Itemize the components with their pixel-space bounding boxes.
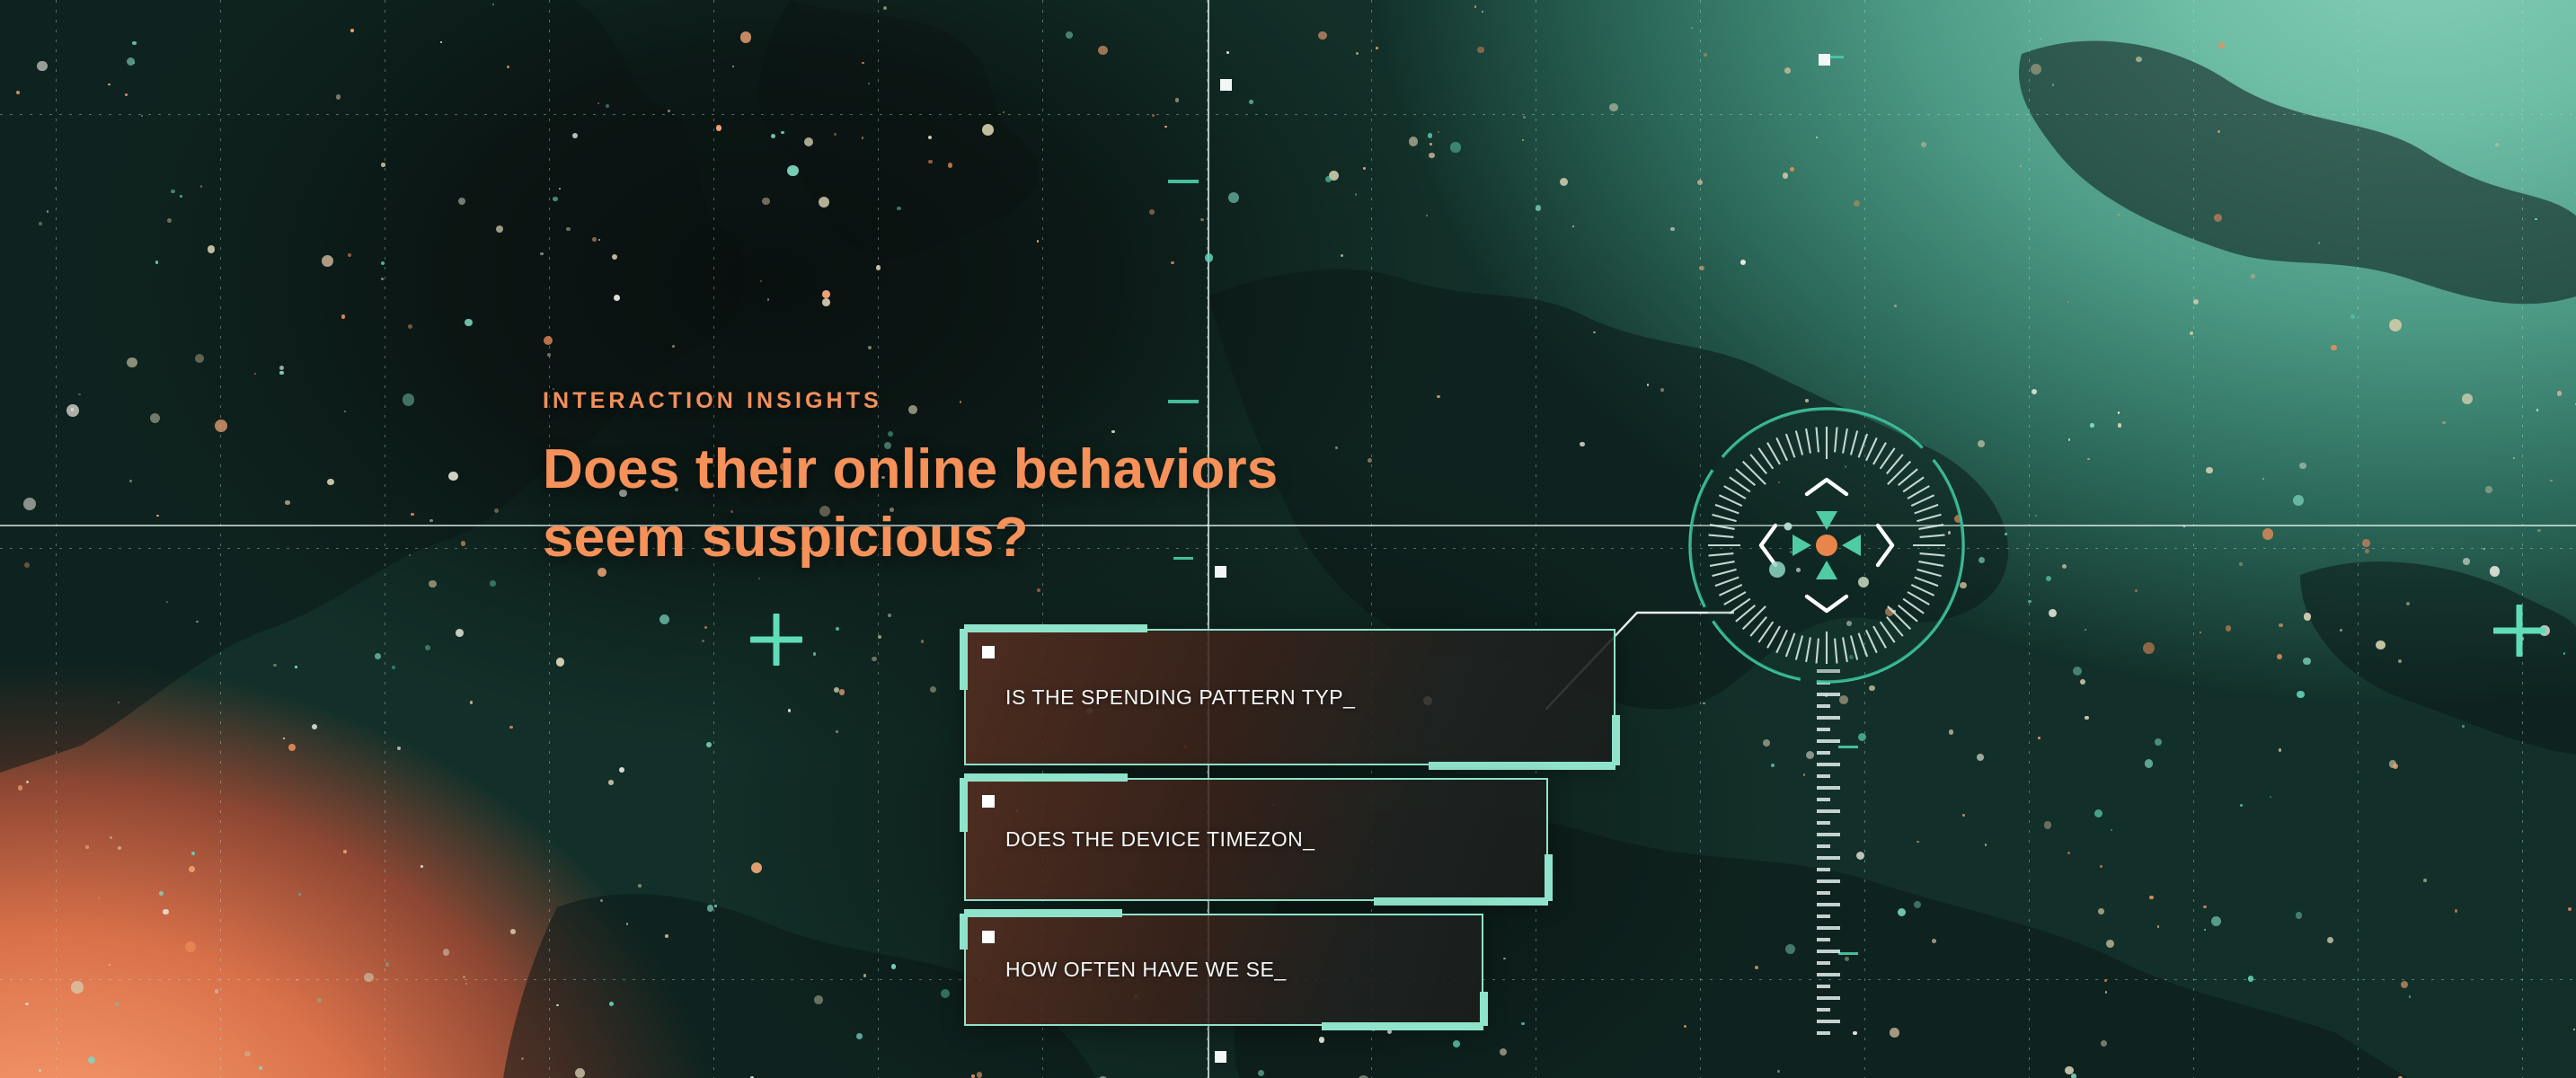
data-point-dot: [1854, 200, 1860, 207]
data-point-dot: [208, 245, 215, 252]
data-point-dot: [1790, 167, 1794, 172]
data-point-dot: [2087, 458, 2089, 460]
data-point-dot: [317, 998, 322, 1003]
data-point-dot: [760, 280, 762, 282]
data-point-dot: [364, 973, 373, 982]
data-point-dot: [1755, 966, 1758, 969]
data-point-dot: [1429, 153, 1435, 159]
data-point-dot: [2080, 679, 2085, 685]
data-point-dot: [288, 744, 296, 751]
data-point-dot: [285, 500, 289, 505]
data-point-dot: [559, 188, 561, 190]
data-point-dot: [547, 353, 551, 357]
data-point-dot: [490, 580, 495, 586]
hud-satellite-dot: [1784, 523, 1793, 531]
data-point-dot: [2190, 331, 2193, 335]
data-point-dot: [336, 94, 341, 99]
corner-accent-bottom-right: [1480, 992, 1488, 1026]
corner-accent-top-left: [964, 909, 1122, 917]
data-point-dot: [132, 41, 137, 46]
data-point-dot: [2111, 829, 2112, 831]
data-point-dot: [463, 976, 465, 978]
data-point-dot: [196, 621, 198, 623]
corner-accent-bottom-right: [1612, 715, 1620, 765]
data-point-dot: [1437, 395, 1439, 398]
data-point-dot: [1921, 142, 1926, 147]
data-point-dot: [1149, 209, 1155, 215]
data-point-dot: [18, 785, 22, 790]
data-point-dot: [2217, 130, 2220, 133]
data-point-dot: [856, 1033, 863, 1039]
data-point-dot: [921, 640, 925, 643]
data-point-dot: [411, 513, 414, 517]
data-point-dot: [2406, 602, 2410, 605]
data-point-dot: [2071, 1074, 2076, 1078]
data-point-dot: [510, 929, 516, 934]
data-point-dot: [1474, 5, 1476, 7]
data-point-dot: [1869, 685, 1875, 692]
data-point-dot: [1363, 167, 1365, 169]
data-point-dot: [1977, 754, 1984, 761]
crosshair-plus-marker-left: [750, 614, 802, 666]
data-point-dot: [941, 989, 950, 998]
data-point-dot: [381, 278, 384, 280]
question-card-label: DOES THE DEVICE TIMEZON_: [966, 827, 1315, 852]
data-point-dot: [37, 61, 48, 72]
data-point-dot: [58, 1042, 59, 1044]
data-point-dot: [928, 160, 932, 163]
data-point-dot: [1318, 31, 1327, 40]
data-point-dot: [716, 125, 722, 131]
page-title-line-2: seem suspicious?: [543, 504, 1423, 572]
data-point-dot: [1985, 844, 1987, 845]
data-point-dot: [470, 701, 474, 704]
eyebrow-label: INTERACTION INSIGHTS: [543, 388, 1423, 414]
data-point-dot: [1890, 1028, 1899, 1038]
data-point-dot: [609, 1002, 614, 1006]
radar-reticle-hud[interactable]: [1687, 406, 1966, 685]
data-point-dot: [1803, 773, 1805, 775]
data-point-dot: [2044, 821, 2052, 829]
scene-root: INTERACTION INSIGHTS Does their online b…: [0, 0, 2576, 1078]
data-point-dot: [1428, 133, 1433, 138]
data-point-dot: [408, 324, 412, 329]
scale-tick-mark: [1168, 180, 1199, 183]
data-point-dot: [2362, 539, 2370, 547]
data-point-dot: [2442, 421, 2446, 425]
corner-accent-top-left: [964, 773, 1128, 782]
data-point-dot: [553, 197, 558, 202]
data-point-dot: [425, 645, 430, 650]
data-point-dot: [928, 136, 932, 139]
data-point-dot: [507, 66, 509, 68]
data-point-dot: [2226, 625, 2232, 632]
data-point-dot: [2136, 57, 2141, 62]
data-point-dot: [2155, 738, 2162, 746]
data-point-dot: [1164, 126, 1166, 128]
data-point-dot: [2293, 495, 2304, 506]
data-point-dot: [2068, 438, 2070, 440]
data-point-dot: [836, 730, 838, 733]
square-marker: [1215, 1051, 1226, 1063]
data-point-dot: [668, 110, 669, 111]
data-point-dot: [163, 909, 169, 915]
data-point-dot: [322, 255, 333, 267]
square-marker: [1819, 54, 1830, 66]
data-point-dot: [494, 508, 499, 513]
data-point-dot: [2463, 558, 2469, 564]
data-point-dot: [2299, 463, 2306, 469]
question-card-label: HOW OFTEN HAVE WE SE_: [966, 958, 1287, 982]
data-point-dot: [350, 29, 353, 31]
question-card-device-timezone[interactable]: DOES THE DEVICE TIMEZON_: [964, 778, 1548, 901]
corner-accent-bottom-right: [1429, 762, 1616, 770]
data-point-dot: [707, 905, 713, 911]
data-point-dot: [1536, 205, 1541, 210]
data-point-dot: [2073, 667, 2082, 676]
data-point-dot: [2214, 214, 2222, 222]
data-point-dot: [2376, 641, 2386, 650]
data-point-dot: [1175, 98, 1179, 102]
data-point-dot: [141, 115, 143, 117]
data-point-dot: [2389, 319, 2402, 331]
data-point-dot: [118, 846, 121, 850]
data-point-dot: [456, 629, 464, 637]
data-point-dot: [1200, 218, 1203, 221]
data-point-dot: [2143, 642, 2155, 654]
data-point-dot: [254, 373, 256, 375]
data-point-dot: [1917, 841, 1918, 843]
data-point-dot: [2304, 613, 2311, 620]
data-point-dot: [822, 290, 830, 298]
data-point-dot: [312, 724, 317, 729]
data-point-dot: [2455, 909, 2457, 912]
data-point-dot: [215, 420, 227, 432]
data-point-dot: [814, 995, 823, 1004]
data-point-dot: [1704, 53, 1707, 57]
data-point-dot: [863, 974, 866, 976]
data-point-dot: [1500, 1048, 1507, 1056]
question-card-spending-pattern[interactable]: IS THE SPENDING PATTERN TYP_: [964, 629, 1616, 765]
data-point-dot: [1816, 137, 1818, 138]
data-point-dot: [88, 1056, 95, 1064]
data-point-dot: [2149, 896, 2154, 900]
data-point-dot: [888, 614, 891, 617]
data-point-dot: [1914, 901, 1921, 908]
hud-center-dot: [1816, 535, 1837, 556]
data-point-dot: [2485, 486, 2492, 493]
data-point-dot: [1609, 103, 1618, 112]
data-point-dot: [344, 411, 346, 412]
data-point-dot: [2423, 879, 2427, 882]
data-point-dot: [496, 225, 503, 233]
data-point-dot: [740, 31, 752, 43]
data-point-dot: [2513, 457, 2515, 459]
data-point-dot: [1593, 331, 1595, 333]
data-point-dot: [1740, 260, 1746, 265]
data-point-dot: [279, 366, 284, 370]
data-point-dot: [566, 227, 570, 231]
data-point-dot: [71, 408, 75, 411]
data-point-dot: [704, 626, 707, 629]
data-point-dot: [672, 345, 675, 348]
data-point-dot: [461, 541, 466, 546]
data-point-dot: [1066, 31, 1073, 39]
question-card-label: IS THE SPENDING PATTERN TYP_: [966, 685, 1355, 710]
data-point-dot: [375, 653, 381, 659]
data-point-dot: [465, 983, 467, 985]
data-point-dot: [1560, 178, 1568, 186]
data-point-dot: [392, 666, 395, 669]
data-point-dot: [781, 131, 784, 135]
data-point-dot: [2046, 576, 2051, 581]
data-point-dot: [2085, 716, 2088, 720]
data-point-dot: [279, 371, 283, 375]
data-point-dot: [23, 498, 36, 510]
data-point-dot: [614, 295, 620, 301]
data-point-dot: [1856, 852, 1864, 860]
data-point-dot: [619, 767, 624, 773]
bullet-square-icon: [982, 646, 995, 658]
data-point-dot: [2277, 654, 2282, 659]
data-point-dot: [2090, 423, 2094, 427]
corner-accent-bottom-right: [1545, 854, 1553, 901]
data-point-dot: [403, 393, 414, 405]
data-point-dot: [155, 261, 158, 263]
data-point-dot: [200, 185, 203, 188]
data-point-dot: [638, 884, 642, 888]
corner-accent-top-left: [960, 914, 968, 950]
data-point-dot: [788, 709, 792, 712]
data-point-dot: [872, 657, 876, 661]
data-point-dot: [1670, 227, 1674, 231]
data-point-dot: [327, 479, 334, 486]
data-point-dot: [108, 84, 110, 85]
data-point-dot: [348, 253, 351, 257]
corner-accent-bottom-right: [1374, 897, 1548, 906]
hud-satellite-dot: [1858, 577, 1869, 588]
headline-block: INTERACTION INSIGHTS Does their online b…: [543, 388, 1423, 571]
data-point-dot: [47, 210, 49, 212]
data-point-dot: [2296, 912, 2302, 918]
corner-accent-top-left: [960, 778, 968, 832]
data-point-dot: [171, 190, 174, 193]
data-point-dot: [2537, 529, 2541, 533]
data-point-dot: [2038, 737, 2040, 739]
data-point-dot: [787, 165, 798, 176]
data-point-dot: [1580, 442, 1584, 446]
data-point-dot: [1785, 944, 1795, 954]
corner-accent-bottom-right: [1322, 1022, 1483, 1030]
data-point-dot: [2239, 562, 2243, 566]
data-point-dot: [191, 852, 195, 855]
hud-satellite-dot: [1769, 561, 1785, 578]
data-point-dot: [71, 981, 83, 993]
scale-tick-mark: [1838, 952, 1858, 955]
data-point-dot: [714, 905, 717, 907]
data-point-dot: [2262, 478, 2264, 480]
corner-accent-top-left: [960, 629, 968, 690]
data-point-dot: [897, 207, 901, 211]
data-point-dot: [420, 865, 423, 868]
data-point-dot: [1684, 1025, 1686, 1028]
data-point-dot: [1430, 143, 1431, 145]
data-point-dot: [2331, 345, 2336, 350]
data-point-dot: [1356, 52, 1359, 55]
data-point-dot: [1325, 176, 1332, 182]
data-point-dot: [39, 1069, 41, 1072]
crosshair-plus-marker-right: [2493, 605, 2545, 657]
data-point-dot: [443, 949, 449, 955]
data-point-dot: [295, 666, 297, 668]
data-point-dot: [822, 298, 830, 306]
data-point-dot: [1098, 46, 1107, 55]
data-point-dot: [16, 91, 20, 94]
data-point-dot: [159, 891, 164, 896]
data-point-dot: [2251, 274, 2255, 278]
data-point-dot: [2031, 64, 2041, 75]
data-point-dot: [762, 198, 769, 205]
data-point-dot: [2049, 609, 2057, 617]
data-point-dot: [381, 163, 385, 166]
question-card-how-often-seen[interactable]: HOW OFTEN HAVE WE SE_: [964, 914, 1483, 1026]
question-card-list: IS THE SPENDING PATTERN TYP_ DOES THE DE…: [964, 629, 1616, 1038]
data-point-dot: [296, 979, 297, 981]
data-point-dot: [429, 519, 432, 522]
data-point-dot: [2462, 725, 2465, 728]
data-point-dot: [862, 62, 864, 65]
data-point-dot: [185, 941, 196, 952]
data-point-dot: [1450, 142, 1460, 152]
data-point-dot: [1699, 266, 1704, 270]
data-point-dot: [1258, 1070, 1264, 1076]
data-point-dot: [2118, 423, 2121, 427]
data-point-dot: [2279, 748, 2281, 751]
square-marker: [1220, 79, 1232, 91]
data-point-dot: [612, 254, 617, 260]
data-point-dot: [540, 252, 543, 255]
data-point-dot: [2495, 143, 2498, 146]
data-point-dot: [2340, 629, 2342, 632]
data-point-dot: [665, 934, 668, 938]
corner-accent-top-left: [964, 624, 1147, 632]
data-point-dot: [1453, 1040, 1460, 1047]
data-point-dot: [1777, 1070, 1780, 1073]
data-point-dot: [2550, 480, 2553, 482]
data-point-dot: [509, 726, 512, 729]
data-point-dot: [458, 198, 465, 205]
data-point-dot: [2262, 528, 2273, 539]
data-point-dot: [2297, 691, 2305, 699]
scale-tick-mark: [1838, 746, 1858, 748]
data-point-dot: [1806, 751, 1814, 759]
data-point-dot: [2490, 566, 2501, 577]
data-point-dot: [2279, 623, 2282, 627]
data-point-dot: [982, 124, 994, 136]
data-point-dot: [127, 358, 137, 368]
data-point-dot: [156, 515, 158, 517]
data-point-dot: [273, 664, 276, 667]
data-point-dot: [2211, 916, 2221, 926]
data-point-dot: [1003, 111, 1005, 113]
data-point-dot: [2350, 314, 2355, 319]
data-point-dot: [78, 393, 80, 395]
data-point-dot: [1932, 939, 1936, 943]
data-point-dot: [1171, 261, 1174, 265]
data-point-dot: [2032, 389, 2037, 394]
data-point-dot: [129, 480, 132, 482]
bullet-square-icon: [982, 931, 995, 943]
data-point-dot: [429, 580, 437, 588]
data-point-dot: [465, 319, 473, 327]
data-point-dot: [189, 866, 195, 872]
data-point-dot: [2557, 391, 2562, 395]
page-title: Does their online behaviors seem suspici…: [543, 436, 1423, 571]
data-point-dot: [2145, 759, 2154, 768]
data-point-dot: [971, 1074, 975, 1078]
bullet-square-icon: [982, 795, 995, 808]
data-point-dot: [1572, 225, 1574, 227]
data-point-dot: [2206, 467, 2212, 473]
data-point-dot: [2398, 659, 2402, 663]
data-point-dot: [659, 614, 669, 624]
page-title-line-1: Does their online behaviors: [543, 436, 1423, 504]
data-point-dot: [592, 237, 597, 242]
data-point-dot: [1037, 588, 1040, 592]
data-point-dot: [1763, 739, 1770, 747]
data-point-dot: [215, 989, 218, 993]
data-point-dot: [341, 314, 345, 318]
